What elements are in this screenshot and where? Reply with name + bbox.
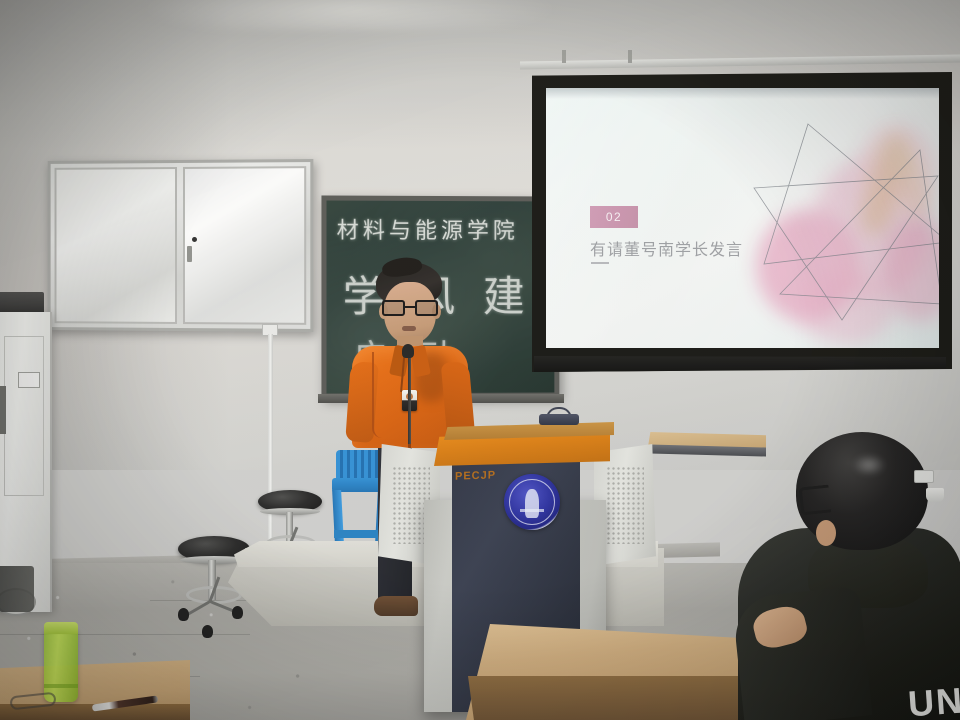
geometric-line-overlay xyxy=(742,114,939,336)
projection-screen: 02 有请董号南学长发言 xyxy=(532,72,952,372)
presentation-slide: 02 有请董号南学长发言 xyxy=(546,88,939,348)
cabinet-door-right[interactable] xyxy=(183,166,306,325)
slide-title-underline xyxy=(591,262,609,264)
bottle-cap[interactable] xyxy=(44,622,78,634)
slide-section-number: 02 xyxy=(606,210,622,224)
equipment-slot xyxy=(0,386,6,434)
cabinet-lock-icon xyxy=(192,237,197,242)
glasses-lens-left xyxy=(382,300,405,316)
blackboard-line-1: 材料与能源学院 xyxy=(337,213,519,246)
equipment-panel xyxy=(4,336,44,496)
green-water-bottle[interactable] xyxy=(44,628,78,702)
listener-glasses-icon xyxy=(799,485,832,516)
wall-cabinet[interactable] xyxy=(48,159,314,332)
speaker-mouth xyxy=(402,326,416,331)
rail-hook xyxy=(628,50,632,63)
classroom-scene: 材料与能源学院 学风建设 启动 xyxy=(0,0,960,720)
microphone-stand xyxy=(408,352,411,444)
equipment-label xyxy=(18,372,40,388)
listener-ear xyxy=(816,520,836,546)
microphone-cable xyxy=(372,352,382,438)
stool-caster xyxy=(232,606,243,619)
listener-hair-highlight xyxy=(852,454,886,476)
slide-section-badge: 02 xyxy=(590,206,638,228)
waste-bin xyxy=(0,566,34,612)
stool-caster xyxy=(202,625,213,638)
podium-brand-label: PECJP xyxy=(455,469,496,482)
podium-microphone-base xyxy=(539,414,579,425)
hoodie-back-text: UNIH xyxy=(907,677,960,720)
cup-on-ledge xyxy=(926,488,944,502)
speaker-glasses-icon xyxy=(382,300,438,316)
stool-caster xyxy=(178,608,189,621)
wall-outlet-icon[interactable] xyxy=(914,470,934,483)
equipment-cabinet-top xyxy=(0,292,44,314)
rail-hook xyxy=(562,50,566,63)
blue-stool-backrest xyxy=(336,450,382,480)
glasses-bridge xyxy=(405,306,415,308)
speaker-shoe xyxy=(374,596,418,616)
wall-conduit xyxy=(268,334,273,566)
emblem-core xyxy=(525,489,538,518)
slide-title: 有请董号南学长发言 xyxy=(590,236,743,260)
speaker-grille-right xyxy=(606,466,644,544)
emblem-bar xyxy=(520,509,545,512)
university-emblem-icon xyxy=(504,474,560,530)
microphone-icon xyxy=(402,344,414,358)
slide-top-band xyxy=(546,88,939,99)
cabinet-door-left[interactable] xyxy=(55,167,177,324)
slide-artwork xyxy=(742,114,939,336)
listener-arm xyxy=(732,586,873,720)
bottle-band xyxy=(44,684,78,688)
cabinet-handle[interactable] xyxy=(187,246,192,262)
glasses-lens-right xyxy=(415,300,438,316)
